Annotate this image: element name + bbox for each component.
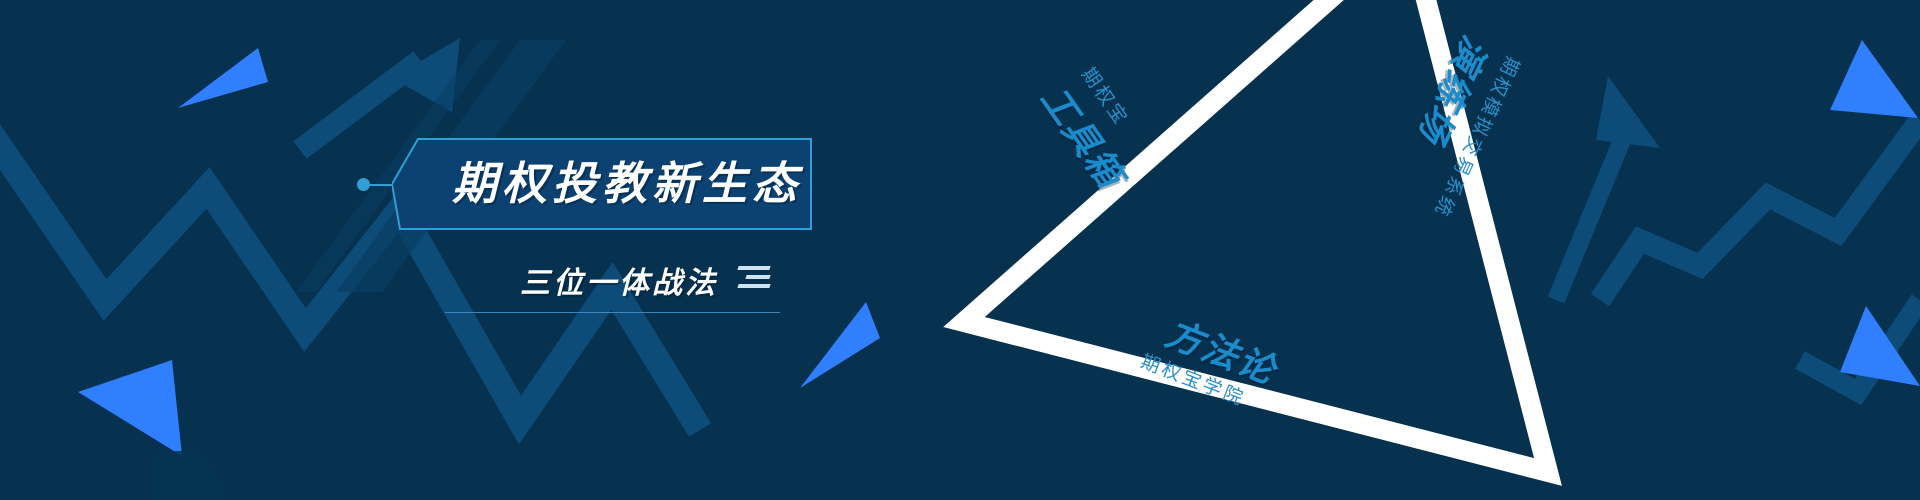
subtitle-text: 三位一体战法	[520, 258, 718, 302]
banner-root: 期权投教新生态 三位一体战法 期权宝 工具箱 期权模拟交易系统 演练场 方法论 …	[0, 0, 1920, 500]
page-title: 期权投教新生态	[452, 156, 802, 212]
triangle-frame	[0, 0, 1920, 500]
subtitle-group: 三位一体战法	[440, 258, 780, 316]
three-bars-icon	[738, 266, 780, 294]
subtitle-rule	[445, 312, 780, 313]
title-group: 期权投教新生态	[352, 138, 812, 248]
